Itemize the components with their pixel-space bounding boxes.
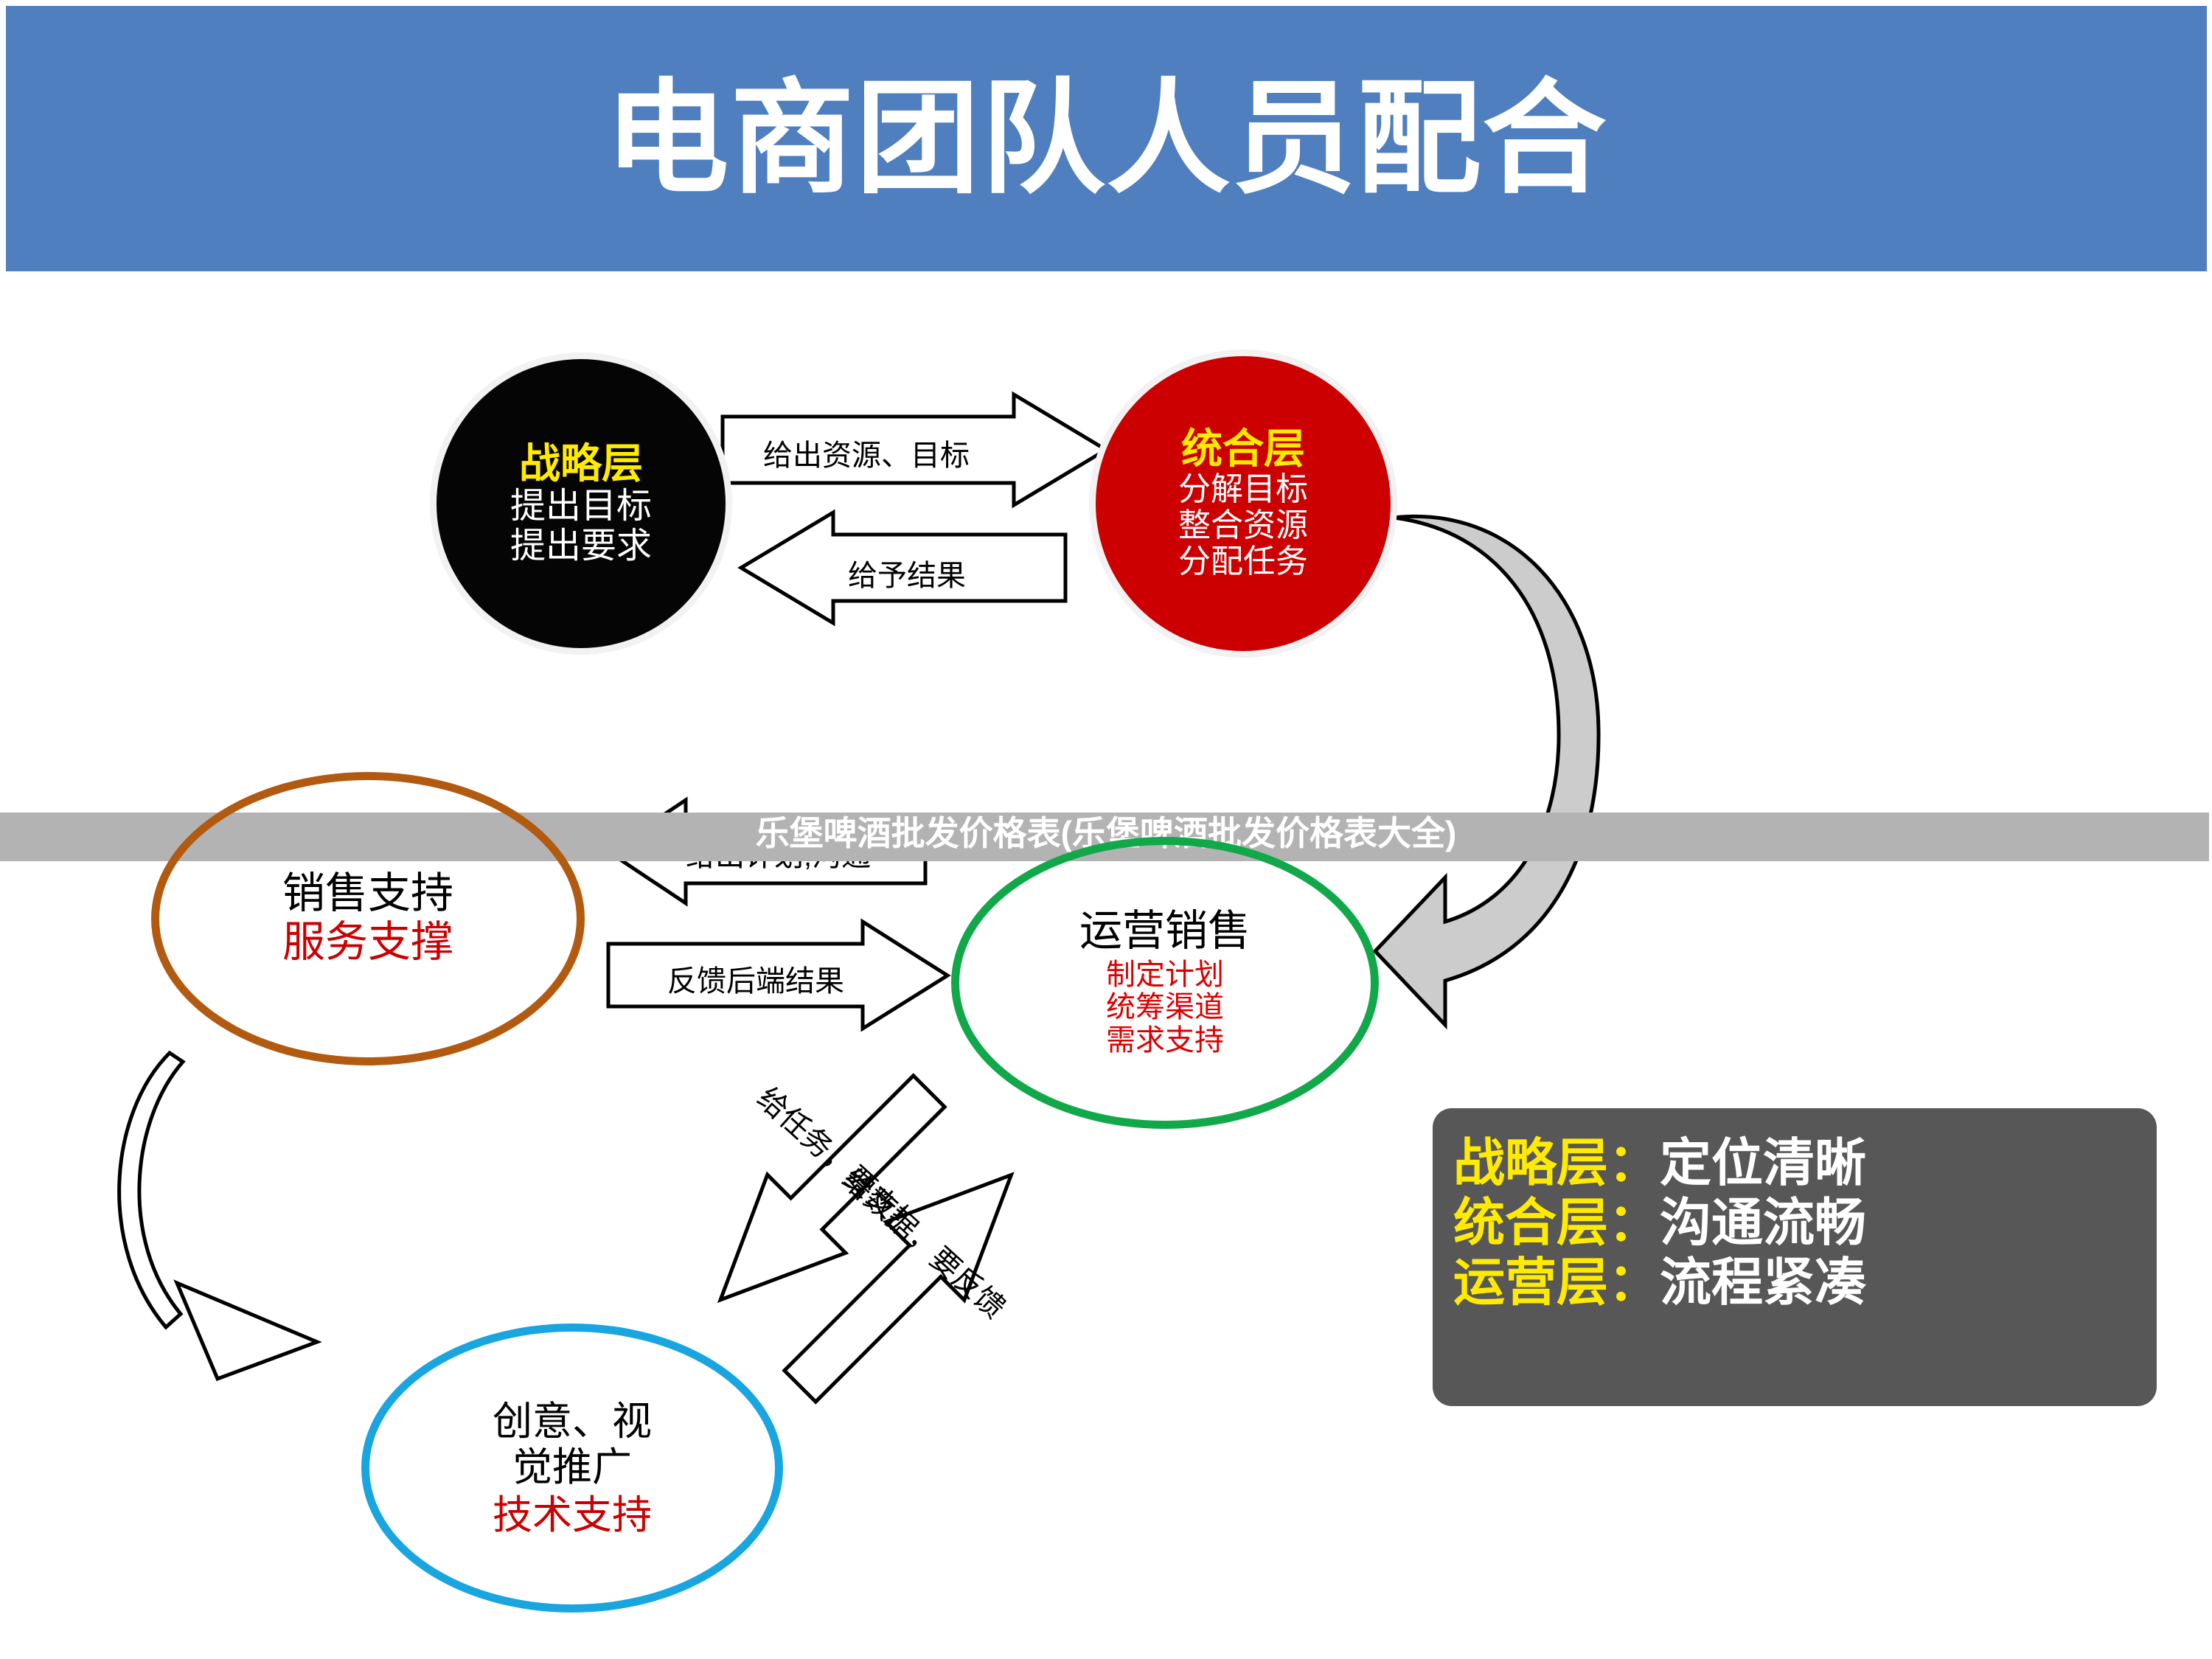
node-sales-support[interactable]: 销售支持 服务支撑 xyxy=(151,772,585,1065)
node-operations-line2: 统筹渠道 xyxy=(1106,991,1224,1024)
node-operations-title: 运营销售 xyxy=(1079,908,1251,953)
node-integration-layer[interactable]: 统合层 分解目标 整合资源 分配任务 xyxy=(1096,356,1391,651)
title-banner: 电商团队人员配合 xyxy=(6,6,2207,271)
legend-panel: 战略层 ： 定位清晰 统合层 ： 沟通流畅 运营层 ： 流程紧凑 xyxy=(1433,1108,2157,1406)
node-strategy-title: 战略层 xyxy=(519,442,643,485)
legend-separator: ： xyxy=(1608,1193,1660,1253)
legend-row: 运营层 ： 流程紧凑 xyxy=(1453,1253,2135,1312)
legend-separator: ： xyxy=(1608,1253,1660,1312)
legend-key: 统合层 xyxy=(1453,1193,1608,1253)
legend-key: 运营层 xyxy=(1453,1253,1608,1312)
node-integration-line1: 分解目标 xyxy=(1178,471,1308,507)
arrow-give-data xyxy=(737,1110,1077,1449)
node-operations-line3: 需求支持 xyxy=(1106,1024,1224,1057)
legend-row: 统合层 ： 沟通流畅 xyxy=(1453,1193,2135,1253)
node-integration-title: 统合层 xyxy=(1181,427,1305,470)
node-operations-line1: 制定计划 xyxy=(1106,959,1224,992)
node-creative-title-line2: 觉推广 xyxy=(512,1444,632,1490)
node-strategy-line2: 提出要求 xyxy=(510,526,652,566)
node-operations[interactable]: 运营销售 制定计划 统筹渠道 需求支持 xyxy=(951,837,1379,1129)
node-strategy-line1: 提出目标 xyxy=(510,487,652,526)
legend-key: 战略层 xyxy=(1453,1133,1608,1193)
page-title: 电商团队人员配合 xyxy=(605,77,1608,201)
node-sales-support-line1: 服务支撑 xyxy=(282,919,453,967)
node-strategy-layer[interactable]: 战略层 提出目标 提出要求 xyxy=(437,359,726,648)
legend-row: 战略层 ： 定位清晰 xyxy=(1453,1133,2135,1193)
slide-canvas: 电商团队人员配合 给出资源、目标 给予结果 给出计划,沟通 反馈后端结果 给任务… xyxy=(0,0,2212,1659)
node-sales-support-title: 销售支持 xyxy=(282,871,453,916)
legend-value: 流程紧凑 xyxy=(1660,1253,1866,1312)
node-creative-promotion[interactable]: 创意、视 觉推广 技术支持 xyxy=(361,1324,783,1613)
arrow-label-feedback-backend: 反馈后端结果 xyxy=(667,957,844,1000)
node-integration-line3: 分配任务 xyxy=(1178,543,1308,580)
legend-separator: ： xyxy=(1608,1133,1660,1193)
arrow-curved-left xyxy=(96,1047,376,1430)
arrow-label-give-results: 给予结果 xyxy=(848,552,966,594)
arrow-curved-right xyxy=(1371,509,1607,1099)
legend-value: 定位清晰 xyxy=(1660,1133,1866,1193)
legend-value: 沟通流畅 xyxy=(1660,1193,1866,1253)
node-integration-line2: 整合资源 xyxy=(1178,507,1308,543)
node-creative-title-line1: 创意、视 xyxy=(493,1399,652,1444)
node-creative-line1: 技术支持 xyxy=(493,1493,652,1537)
arrow-label-give-resources: 给出资源、目标 xyxy=(763,431,970,474)
